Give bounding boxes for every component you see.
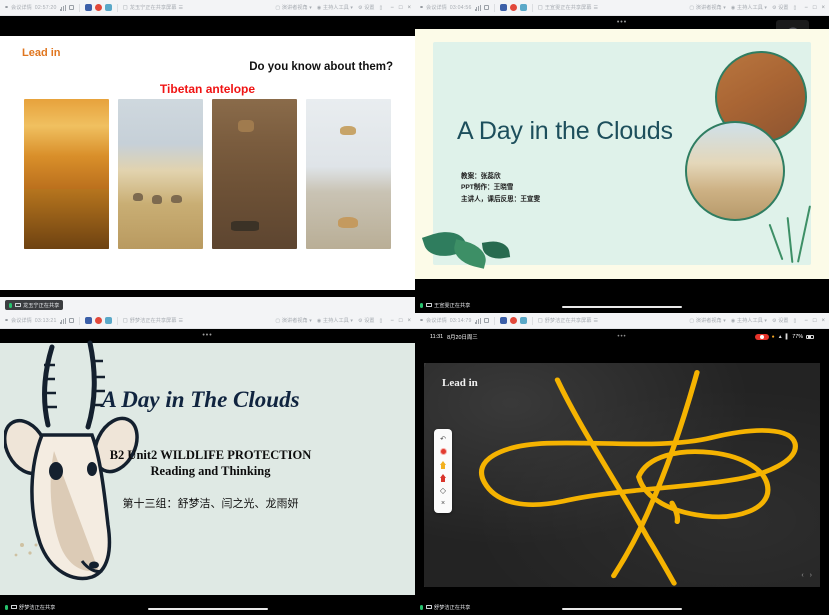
host-tools-label: 主持人工具 [737,4,763,11]
settings-label: 设置 [778,317,788,324]
shield-icon: ◉ [731,5,736,11]
photo-antelope-herd-on-plain [118,99,203,249]
presenter-view-dropdown[interactable]: ▢ 演讲者视角 ▾ [689,4,725,11]
share-status-text: 龙玉宁正在共享屏幕 [130,4,177,11]
screen-icon [426,303,432,308]
popout-icon[interactable] [69,5,74,10]
toolbar-divider [117,4,118,12]
shared-content-lead-in: Lead in Do you know about them? Tibetan … [0,16,415,313]
yellow-annotation-strokes [424,363,820,587]
slide-subtitle-unit: B2 Unit2 WILDLIFE PROTECTION [20,448,401,463]
photo-antelope-on-plain-circle [685,121,785,221]
slide-subtitle-section: Reading and Thinking [20,464,401,479]
shield-icon: ◉ [317,318,322,324]
credit-line: PPT制作：王晓雪 [461,182,540,193]
window-controls: − □ × [390,318,411,324]
slide-cover: A Day in The Clouds B2 Unit2 WILDLIFE PR… [0,343,415,595]
microphone-icon [420,605,423,610]
meeting-timer: 02:57:20 [35,5,57,11]
window-controls: − □ × [804,318,825,324]
share-screen-icon[interactable] [105,317,112,324]
share-status-bar: 舒梦洁正在共享 [415,599,829,615]
presenter-view-icon: ▢ [275,318,280,324]
meeting-details-label[interactable]: 会议详情 [426,317,447,324]
meeting-timer: 03:04:56 [450,5,472,11]
pane-cover-slide: ⚭ 会议详情 03:13:21 ◻ 舒梦洁正在共享屏幕 ☰ ▢ 演讲者视角 ▾ [0,313,415,615]
home-indicator [562,608,682,610]
chevron-down-icon: ▾ [350,318,353,324]
microphone-icon [420,303,423,308]
host-tools-dropdown[interactable]: ◉ 主持人工具 ▾ [317,4,353,11]
monitor-icon: ◻ [538,318,543,324]
photo-strip [24,99,391,249]
meeting-toolbar: ⚭ 会议详情 03:04:56 ◻ 王宣雯正在共享屏幕 ☰ ▢ 演讲者视角 ▾ [415,0,829,16]
sharing-badge-text: 龙玉宁正在共享 [23,302,59,309]
popout-icon[interactable] [484,318,489,323]
slide-title-clouds: A Day in the Clouds 教案：张蕊欣 PPT制作：王晓雪 主讲人… [415,29,829,279]
settings-label: 设置 [364,4,374,11]
share-screen-icon[interactable] [105,4,112,11]
photo-antelope-remains-on-dirt [212,99,297,249]
minimize-button[interactable]: − [804,318,808,324]
host-tools-dropdown[interactable]: ◉ 主持人工具 ▾ [731,4,767,11]
battery-icon [806,335,814,340]
meeting-window-grid: ⚭ 会议详情 02:57:20 ◻ 龙玉宁正在共享屏幕 ☰ ▢ 演讲者视角 ▾ [0,0,829,615]
share-status: ◻ 舒梦洁正在共享屏幕 ☰ [538,317,598,324]
host-tools-label: 主持人工具 [323,317,349,324]
share-status-text: 舒梦洁正在共享屏幕 [545,317,592,324]
toolbar-right-group: ▢ 演讲者视角 ▾ ◉ 主持人工具 ▾ ⚙ 设置 ▯ − □ × [275,317,411,324]
sharing-badge: 舒梦洁正在共享 [5,602,59,612]
annotation-toolbar[interactable]: ↶ ◇ × [434,429,452,513]
share-screen-icon[interactable] [520,317,527,324]
share-status-text: 王宣雯正在共享屏幕 [545,4,592,11]
share-status-bar: 龙玉宁正在共享 [0,297,415,313]
chevron-down-icon: ▾ [723,5,726,11]
settings-label: 设置 [778,4,788,11]
pane-title-clouds: ⚭ 会议详情 03:04:56 ◻ 王宣雯正在共享屏幕 ☰ ▢ 演讲者视角 ▾ [415,0,829,313]
meeting-timer: 03:13:21 [35,318,57,324]
credit-line: 教案：张蕊欣 [461,171,540,182]
toolbar-divider [494,317,495,325]
cellular-icon: ● [772,334,775,340]
chevron-down-icon: ▾ [764,5,767,11]
eraser-icon[interactable]: ◇ [434,484,452,497]
slide-heading: A Day in the Clouds [457,117,673,146]
toolbar-divider [79,4,80,12]
monitor-icon: ◻ [538,5,543,11]
presenter-view-label: 演讲者视角 [696,4,722,11]
list-icon[interactable]: ☰ [593,318,598,324]
toolbar-divider [117,317,118,325]
settings-button[interactable]: ⚙ 设置 [358,4,375,11]
share-status-bar: 王宣雯正在共享 [415,297,829,313]
yellow-pen-icon[interactable] [434,458,452,471]
toolbar-right-group: ▢ 演讲者视角 ▾ ◉ 主持人工具 ▾ ⚙ 设置 ▯ − □ × [275,4,411,11]
blackboard-canvas[interactable]: Lead in ↶ [424,363,820,587]
more-options-icon[interactable]: ••• [617,19,627,26]
share-status-text: 舒梦洁正在共享屏幕 [130,317,177,324]
screen-icon [11,605,17,610]
shared-content-cover-slide: ••• [0,329,415,615]
wifi-icon: ▲ [778,334,783,340]
shield-icon: ◉ [317,5,322,11]
meeting-details-label[interactable]: 会议详情 [11,317,32,324]
window-controls: − □ × [390,5,411,11]
sharing-badge: 舒梦洁正在共享 [420,602,474,612]
host-tools-label: 主持人工具 [323,4,349,11]
presenter-view-dropdown[interactable]: ▢ 演讲者视角 ▾ [275,4,311,11]
maximize-button[interactable]: □ [399,5,403,11]
sharing-badge-text: 舒梦洁正在共享 [19,604,55,611]
tencent-meeting-logo-icon: ⚭ [419,4,423,11]
meeting-timer: 03:14:79 [450,318,472,324]
list-icon[interactable]: ☰ [178,318,183,324]
signal-icon: ▌ [786,334,790,340]
close-button[interactable]: × [407,318,411,324]
minimize-button[interactable]: − [390,318,394,324]
meeting-details-label[interactable]: 会议详情 [11,4,32,11]
settings-button[interactable]: ⚙ 设置 [358,317,375,324]
meeting-toolbar: ⚭ 会议详情 03:14:79 ◻ 舒梦洁正在共享屏幕 ☰ ▢ 演讲者视角 ▾ [415,313,829,329]
gear-icon: ⚙ [358,5,363,11]
microphone-icon [5,605,8,610]
signal-strength-icon [60,5,66,11]
slide-lead-in-label: Lead in [22,47,61,59]
battery-percent: 77% [792,334,803,340]
shared-content-phone: 11:31 8月20日周三 ••• ● ▲ ▌ 77% Lead in [415,329,829,615]
photo-antelopes-at-sunset [24,99,109,249]
next-page-button[interactable]: › [810,572,812,579]
minimize-button[interactable]: − [390,5,394,11]
chevron-down-icon: ▾ [309,5,312,11]
phone-clock: 11:31 [430,334,443,340]
host-tools-label: 主持人工具 [737,317,763,324]
settings-button[interactable]: ⚙ 设置 [772,317,789,324]
chevron-down-icon: ▾ [723,318,726,324]
red-pen-icon[interactable] [434,471,452,484]
sharing-badge-text: 王宣雯正在共享 [434,302,470,309]
phone-screen: 11:31 8月20日周三 ••• ● ▲ ▌ 77% Lead in [424,329,820,615]
toolbar-divider [494,4,495,12]
tencent-meeting-logo-icon: ⚭ [4,4,8,11]
popout-icon[interactable] [484,5,489,10]
meeting-toolbar: ⚭ 会议详情 03:13:21 ◻ 舒梦洁正在共享屏幕 ☰ ▢ 演讲者视角 ▾ [0,313,415,329]
sharing-badge: 王宣雯正在共享 [420,300,474,310]
fullscreen-icon[interactable]: ▯ [793,5,796,11]
screen-icon [15,303,21,308]
page-navigation[interactable]: ‹ › [801,572,812,579]
shared-content-title-clouds: ••• A Day in the Clouds 教案：张蕊欣 PPT制作：王晓雪… [415,16,829,313]
presenter-view-label: 演讲者视角 [696,317,722,324]
prev-page-button[interactable]: ‹ [801,572,803,579]
slide-heading: A Day in The Clouds [0,387,401,413]
toolbar-right-group: ▢ 演讲者视角 ▾ ◉ 主持人工具 ▾ ⚙ 设置 ▯ − □ × [689,317,825,324]
record-icon[interactable] [95,317,102,324]
maximize-button[interactable]: □ [813,318,817,324]
slide-credits: 教案：张蕊欣 PPT制作：王晓雪 主讲人，课后反思：王宣雯 [461,171,540,205]
monitor-icon: ◻ [123,5,128,11]
gear-icon: ⚙ [772,5,777,11]
signal-strength-icon [475,318,481,324]
settings-label: 设置 [364,317,374,324]
toolbar-divider [532,317,533,325]
gear-icon: ⚙ [358,318,363,324]
phone-status-bar: 11:31 8月20日周三 ••• ● ▲ ▌ 77% [424,331,820,343]
recording-badge [755,334,769,340]
whiteboard-icon[interactable] [85,4,92,11]
chevron-down-icon: ▾ [350,5,353,11]
more-options-icon[interactable]: ••• [617,334,626,340]
tencent-meeting-logo-icon: ⚭ [4,317,8,324]
host-tools-dropdown[interactable]: ◉ 主持人工具 ▾ [731,317,767,324]
share-status: ◻ 舒梦洁正在共享屏幕 ☰ [123,317,183,324]
share-status: ◻ 王宣雯正在共享屏幕 ☰ [538,4,598,11]
close-icon[interactable]: × [434,497,452,510]
list-icon[interactable]: ☰ [593,5,598,11]
shield-icon: ◉ [731,318,736,324]
presenter-view-label: 演讲者视角 [282,4,308,11]
screen-icon [426,605,432,610]
fullscreen-icon[interactable]: ▯ [379,5,382,11]
home-indicator [562,306,682,308]
minimize-button[interactable]: − [804,5,808,11]
record-icon[interactable] [95,4,102,11]
slide-question: Do you know about them? [249,61,393,73]
whiteboard-icon[interactable] [500,317,507,324]
presenter-view-dropdown[interactable]: ▢ 演讲者视角 ▾ [689,317,725,324]
home-indicator [148,608,268,610]
more-options-icon[interactable]: ••• [202,332,212,339]
popout-icon[interactable] [69,318,74,323]
credit-line: 主讲人，课后反思：王宣雯 [461,194,540,205]
meeting-details-label[interactable]: 会议详情 [426,4,447,11]
status-right: ● ▲ ▌ 77% [755,334,814,340]
record-dot-icon[interactable] [434,445,452,458]
whiteboard-icon[interactable] [85,317,92,324]
photo-antelope-on-snow [306,99,391,249]
gear-icon: ⚙ [772,318,777,324]
slide-group-names: 第十三组：舒梦洁、闫之光、龙雨妍 [20,495,401,511]
maximize-button[interactable]: □ [399,318,403,324]
close-button[interactable]: × [821,5,825,11]
whiteboard-icon[interactable] [500,4,507,11]
signal-strength-icon [475,5,481,11]
presenter-view-icon: ▢ [689,5,694,11]
presenter-view-icon: ▢ [689,318,694,324]
window-controls: − □ × [804,5,825,11]
slide-lead-in: Lead in Do you know about them? Tibetan … [0,36,415,290]
close-button[interactable]: × [407,5,411,11]
share-status: ◻ 龙玉宁正在共享屏幕 ☰ [123,4,183,11]
pane-lead-in: ⚭ 会议详情 02:57:20 ◻ 龙玉宁正在共享屏幕 ☰ ▢ 演讲者视角 ▾ [0,0,415,313]
maximize-button[interactable]: □ [813,5,817,11]
toolbar-divider [532,4,533,12]
list-icon[interactable]: ☰ [178,5,183,11]
tencent-meeting-logo-icon: ⚭ [419,317,423,324]
presenter-view-label: 演讲者视角 [282,317,308,324]
toolbar-divider [79,317,80,325]
presenter-view-icon: ▢ [275,5,280,11]
monitor-icon: ◻ [123,318,128,324]
slide-title: Tibetan antelope [0,82,415,96]
presenter-view-dropdown[interactable]: ▢ 演讲者视角 ▾ [275,317,311,324]
settings-button[interactable]: ⚙ 设置 [772,4,789,11]
fullscreen-icon[interactable]: ▯ [379,318,382,324]
record-icon[interactable] [510,317,517,324]
record-icon[interactable] [510,4,517,11]
undo-icon[interactable]: ↶ [434,432,452,445]
sharing-badge-text: 舒梦洁正在共享 [434,604,470,611]
status-left: 11:31 8月20日周三 [430,333,478,341]
host-tools-dropdown[interactable]: ◉ 主持人工具 ▾ [317,317,353,324]
share-screen-icon[interactable] [520,4,527,11]
fullscreen-icon[interactable]: ▯ [793,318,796,324]
phone-date: 8月20日周三 [447,333,478,341]
meeting-toolbar: ⚭ 会议详情 02:57:20 ◻ 龙玉宁正在共享屏幕 ☰ ▢ 演讲者视角 ▾ [0,0,415,16]
sharing-badge: 龙玉宁正在共享 [5,300,63,310]
signal-strength-icon [60,318,66,324]
microphone-icon [9,303,12,308]
toolbar-right-group: ▢ 演讲者视角 ▾ ◉ 主持人工具 ▾ ⚙ 设置 ▯ − □ × [689,4,825,11]
chevron-down-icon: ▾ [309,318,312,324]
pane-phone-blackboard: ⚭ 会议详情 03:14:79 ◻ 舒梦洁正在共享屏幕 ☰ ▢ 演讲者视角 ▾ [415,313,829,615]
close-button[interactable]: × [821,318,825,324]
chevron-down-icon: ▾ [764,318,767,324]
share-status-bar: 舒梦洁正在共享 [0,599,415,615]
